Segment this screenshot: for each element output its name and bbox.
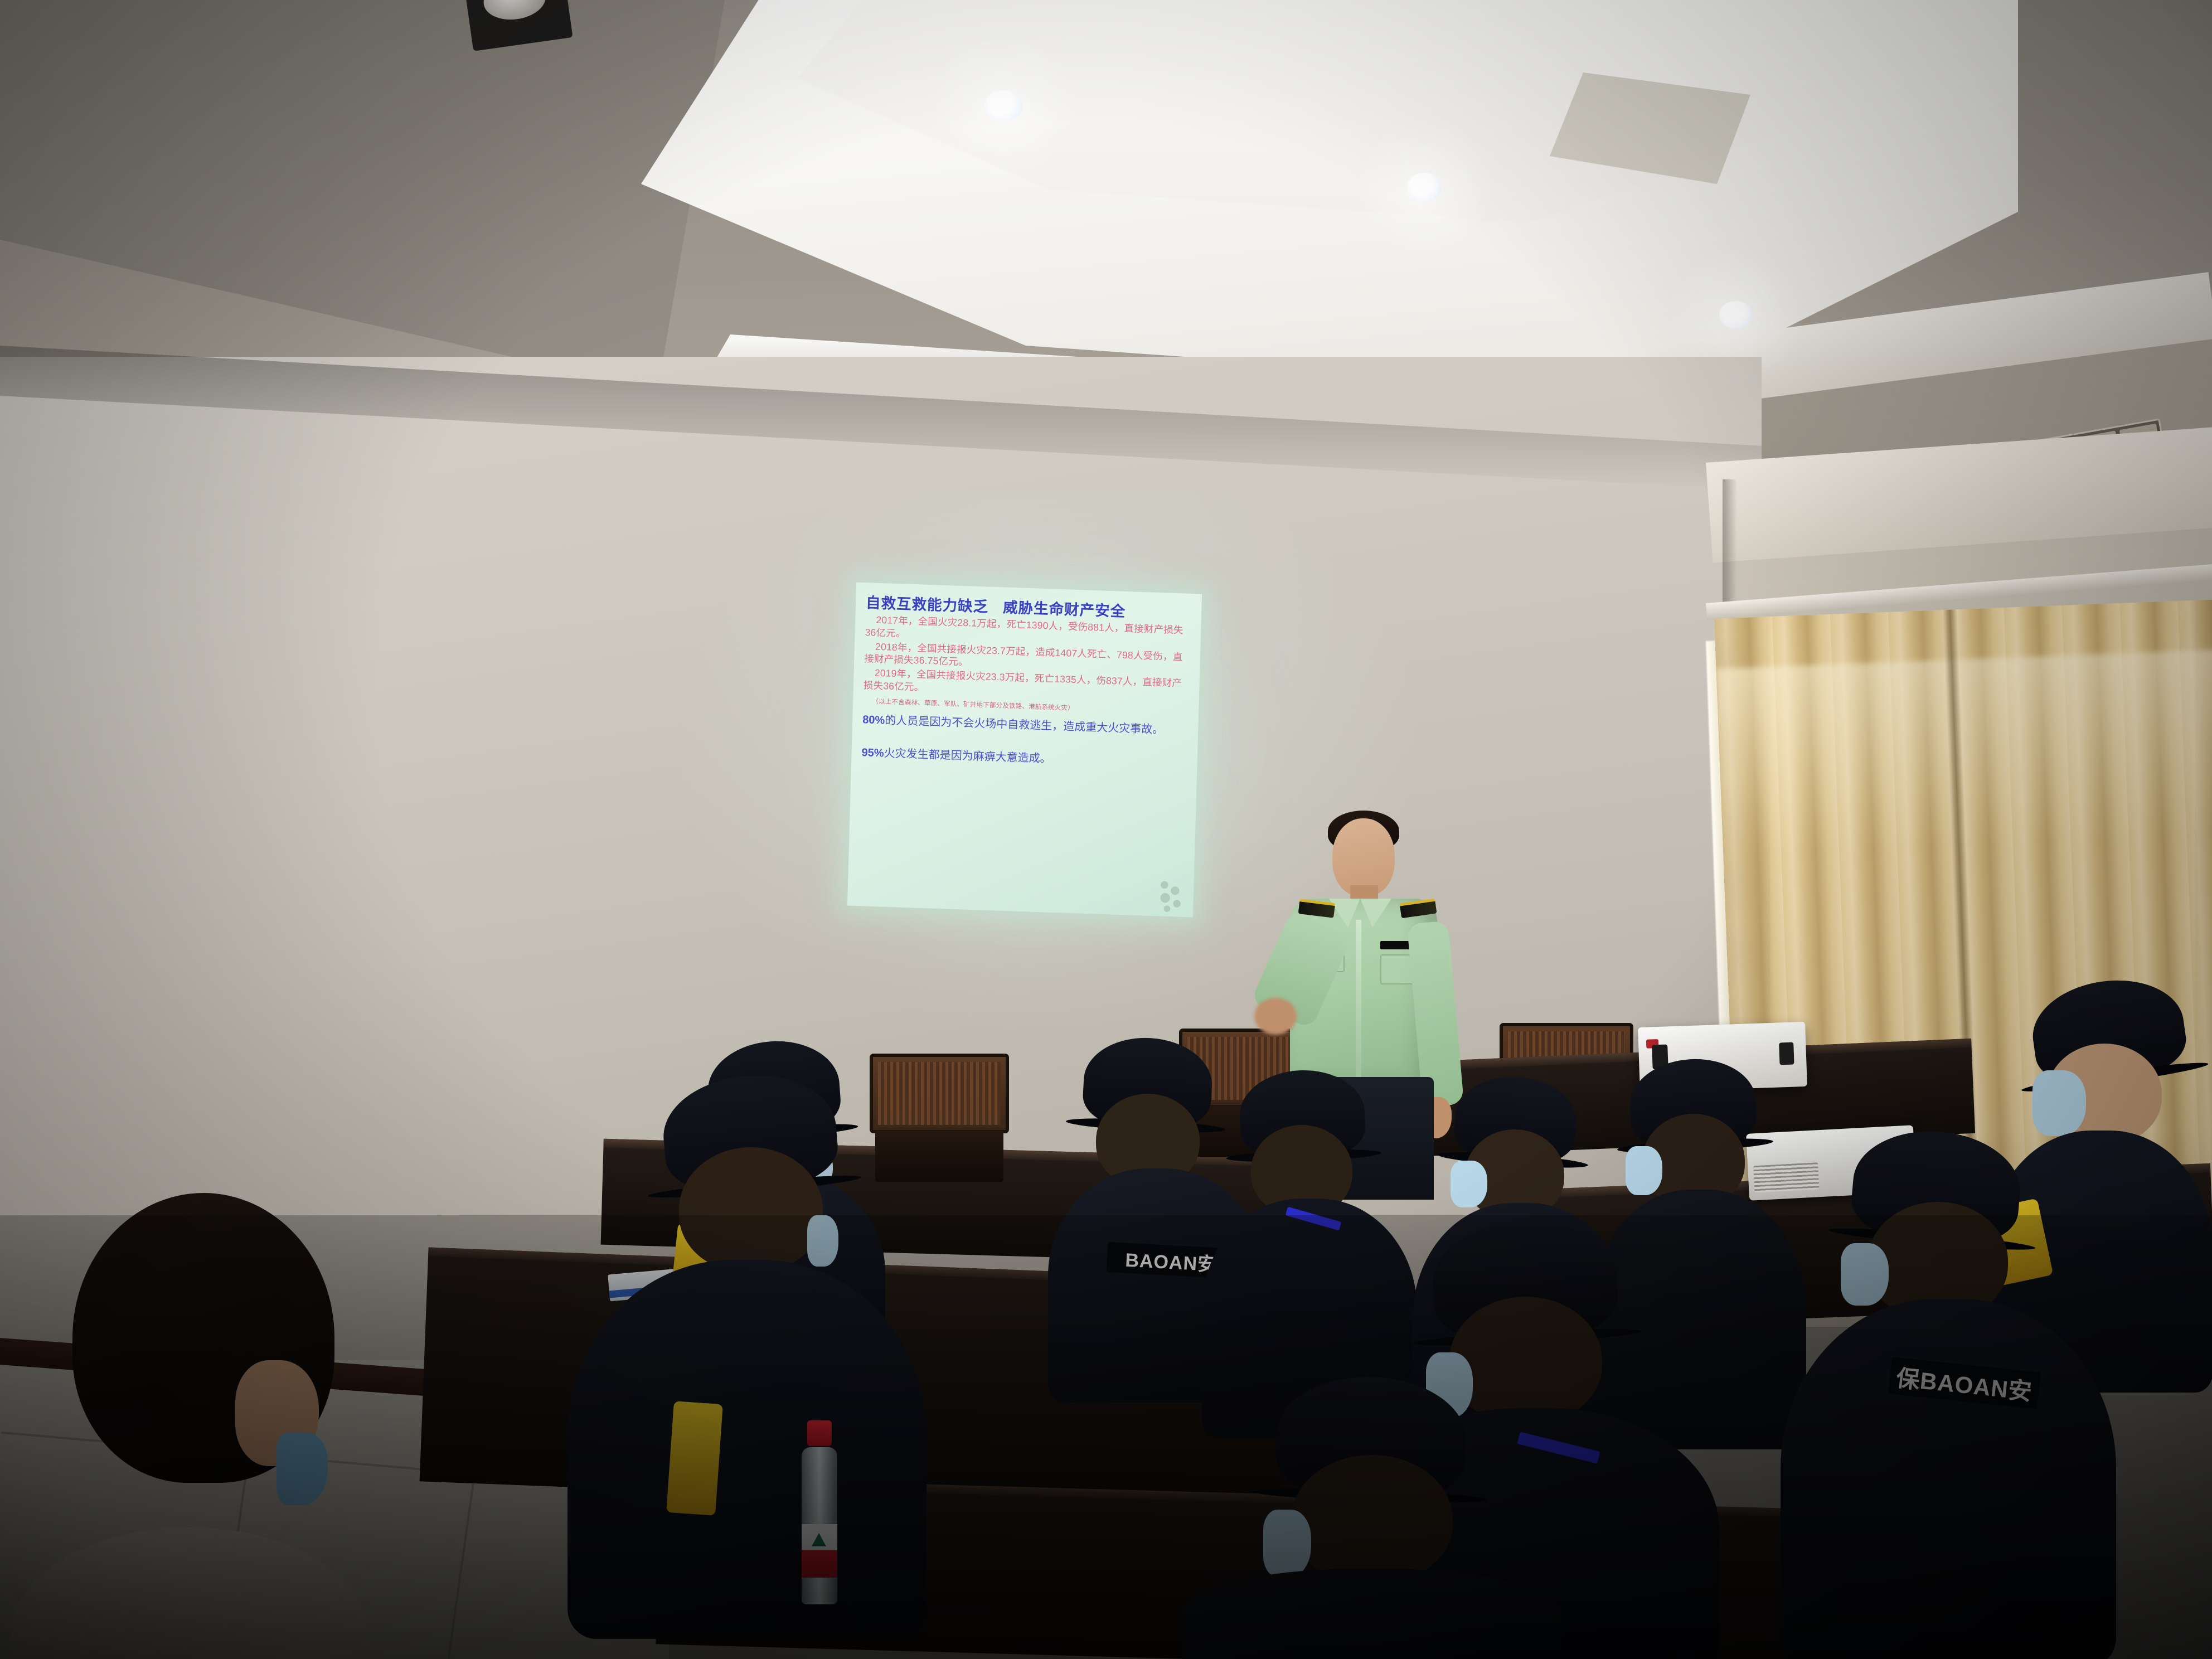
face-mask-icon bbox=[2032, 1070, 2086, 1136]
fixture-glass bbox=[481, 0, 549, 23]
bottle-cap bbox=[807, 1420, 832, 1446]
torso bbox=[1182, 1569, 1561, 1659]
face-mask-icon bbox=[1626, 1146, 1662, 1195]
torso bbox=[567, 1260, 926, 1639]
face-mask-icon bbox=[1451, 1161, 1487, 1207]
audience-member-7: 保BAOAN安 bbox=[1806, 1132, 2096, 1659]
water-bottle-icon bbox=[798, 1420, 841, 1604]
conference-room-photo: 自救互救能力缺乏 威胁生命财产安全 2017年，全国火灾28.1万起，死亡139… bbox=[0, 0, 2212, 1659]
presenter-head bbox=[1332, 818, 1395, 896]
bottle-logo-mountain bbox=[812, 1533, 826, 1546]
face-mask-icon bbox=[276, 1433, 328, 1505]
head bbox=[1291, 1455, 1453, 1583]
head bbox=[679, 1147, 823, 1272]
slide-highlight-80: 80%的人员是因为不会火场中自救逃生，造成重大火灾事故。 bbox=[862, 713, 1190, 738]
slide-title-right: 威胁生命财产安全 bbox=[1003, 595, 1126, 620]
presenter-hand-left bbox=[1254, 998, 1297, 1035]
shoulder-epaulette bbox=[666, 1401, 723, 1516]
projected-slide: 自救互救能力缺乏 威胁生命财产安全 2017年，全国火灾28.1万起，死亡139… bbox=[847, 582, 1202, 917]
slide-highlight-95: 95%火灾发生都是因为麻痹大意造成。 bbox=[861, 743, 1189, 770]
face-mask-icon bbox=[1841, 1243, 1889, 1306]
slide-watermark-icon bbox=[1154, 878, 1187, 914]
audience-member-11 bbox=[17, 1193, 362, 1659]
face-mask-icon bbox=[807, 1215, 838, 1267]
ceiling-downlight-icon bbox=[1394, 162, 1455, 213]
ceiling-downlight-icon bbox=[970, 78, 1037, 134]
torso bbox=[1781, 1299, 2116, 1659]
slide-title-left: 自救互救能力缺乏 bbox=[866, 590, 989, 616]
torso bbox=[11, 1527, 368, 1659]
audience-member-9 bbox=[602, 1076, 892, 1633]
ceiling-downlight-icon bbox=[1706, 290, 1766, 340]
bottle-label bbox=[802, 1524, 837, 1578]
face-mask-icon bbox=[1263, 1510, 1311, 1578]
audience-member-10 bbox=[1193, 1377, 1550, 1659]
presenter-shirt-placket bbox=[1356, 920, 1361, 1087]
